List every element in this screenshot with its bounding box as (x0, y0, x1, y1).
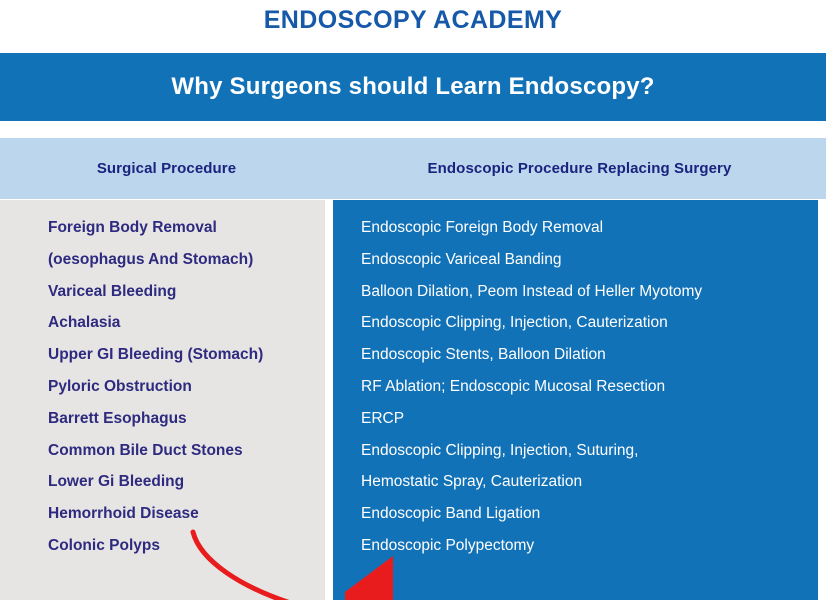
surgical-procedure-row: Colonic Polyps (48, 530, 325, 562)
endoscopic-procedure-row: Endoscopic Variceal Banding (361, 244, 818, 276)
endoscopic-procedure-row: RF Ablation; Endoscopic Mucosal Resectio… (361, 371, 818, 403)
surgical-procedure-row: Upper GI Bleeding (Stomach) (48, 339, 325, 371)
endoscopic-procedure-row: Endoscopic Stents, Balloon Dilation (361, 339, 818, 371)
banner: Why Surgeons should Learn Endoscopy? (0, 53, 826, 121)
poster-root: ENDOSCOPY ACADEMY Why Surgeons should Le… (0, 0, 826, 600)
surgical-procedure-row: Hemorrhoid Disease (48, 498, 325, 530)
surgical-procedure-row: Lower Gi Bleeding (48, 466, 325, 498)
column-header-surgical: Surgical Procedure (0, 138, 333, 199)
brand-bar: ENDOSCOPY ACADEMY (0, 0, 826, 44)
endoscopic-procedure-row: Endoscopic Clipping, Injection, Cauteriz… (361, 307, 818, 339)
endoscopic-procedure-row: Endoscopic Band Ligation (361, 498, 818, 530)
surgical-procedure-list: Foreign Body Removal(oesophagus And Stom… (0, 200, 325, 600)
endoscopic-procedure-row: ERCP (361, 403, 818, 435)
column-header-endoscopic: Endoscopic Procedure Replacing Surgery (333, 138, 826, 199)
surgical-procedure-row: Achalasia (48, 307, 325, 339)
column-header-strip: Surgical Procedure Endoscopic Procedure … (0, 138, 826, 199)
endoscopic-procedure-row: Balloon Dilation, Peom Instead of Heller… (361, 276, 818, 308)
page-title: ENDOSCOPY ACADEMY (264, 8, 563, 33)
surgical-procedure-row: Foreign Body Removal (48, 212, 325, 244)
surgical-procedure-row: Barrett Esophagus (48, 403, 325, 435)
banner-title: Why Surgeons should Learn Endoscopy? (171, 73, 654, 101)
surgical-procedure-row: (oesophagus And Stomach) (48, 244, 325, 276)
endoscopic-procedure-row: Endoscopic Polypectomy (361, 530, 818, 562)
endoscopic-procedure-list: Endoscopic Foreign Body RemovalEndoscopi… (333, 200, 818, 600)
endoscopic-procedure-row: Hemostatic Spray, Cauterization (361, 466, 818, 498)
endoscopic-procedure-row: Endoscopic Foreign Body Removal (361, 212, 818, 244)
surgical-procedure-row: Variceal Bleeding (48, 276, 325, 308)
endoscopic-procedure-row: Endoscopic Clipping, Injection, Suturing… (361, 435, 818, 467)
surgical-procedure-row: Common Bile Duct Stones (48, 435, 325, 467)
surgical-procedure-row: Pyloric Obstruction (48, 371, 325, 403)
